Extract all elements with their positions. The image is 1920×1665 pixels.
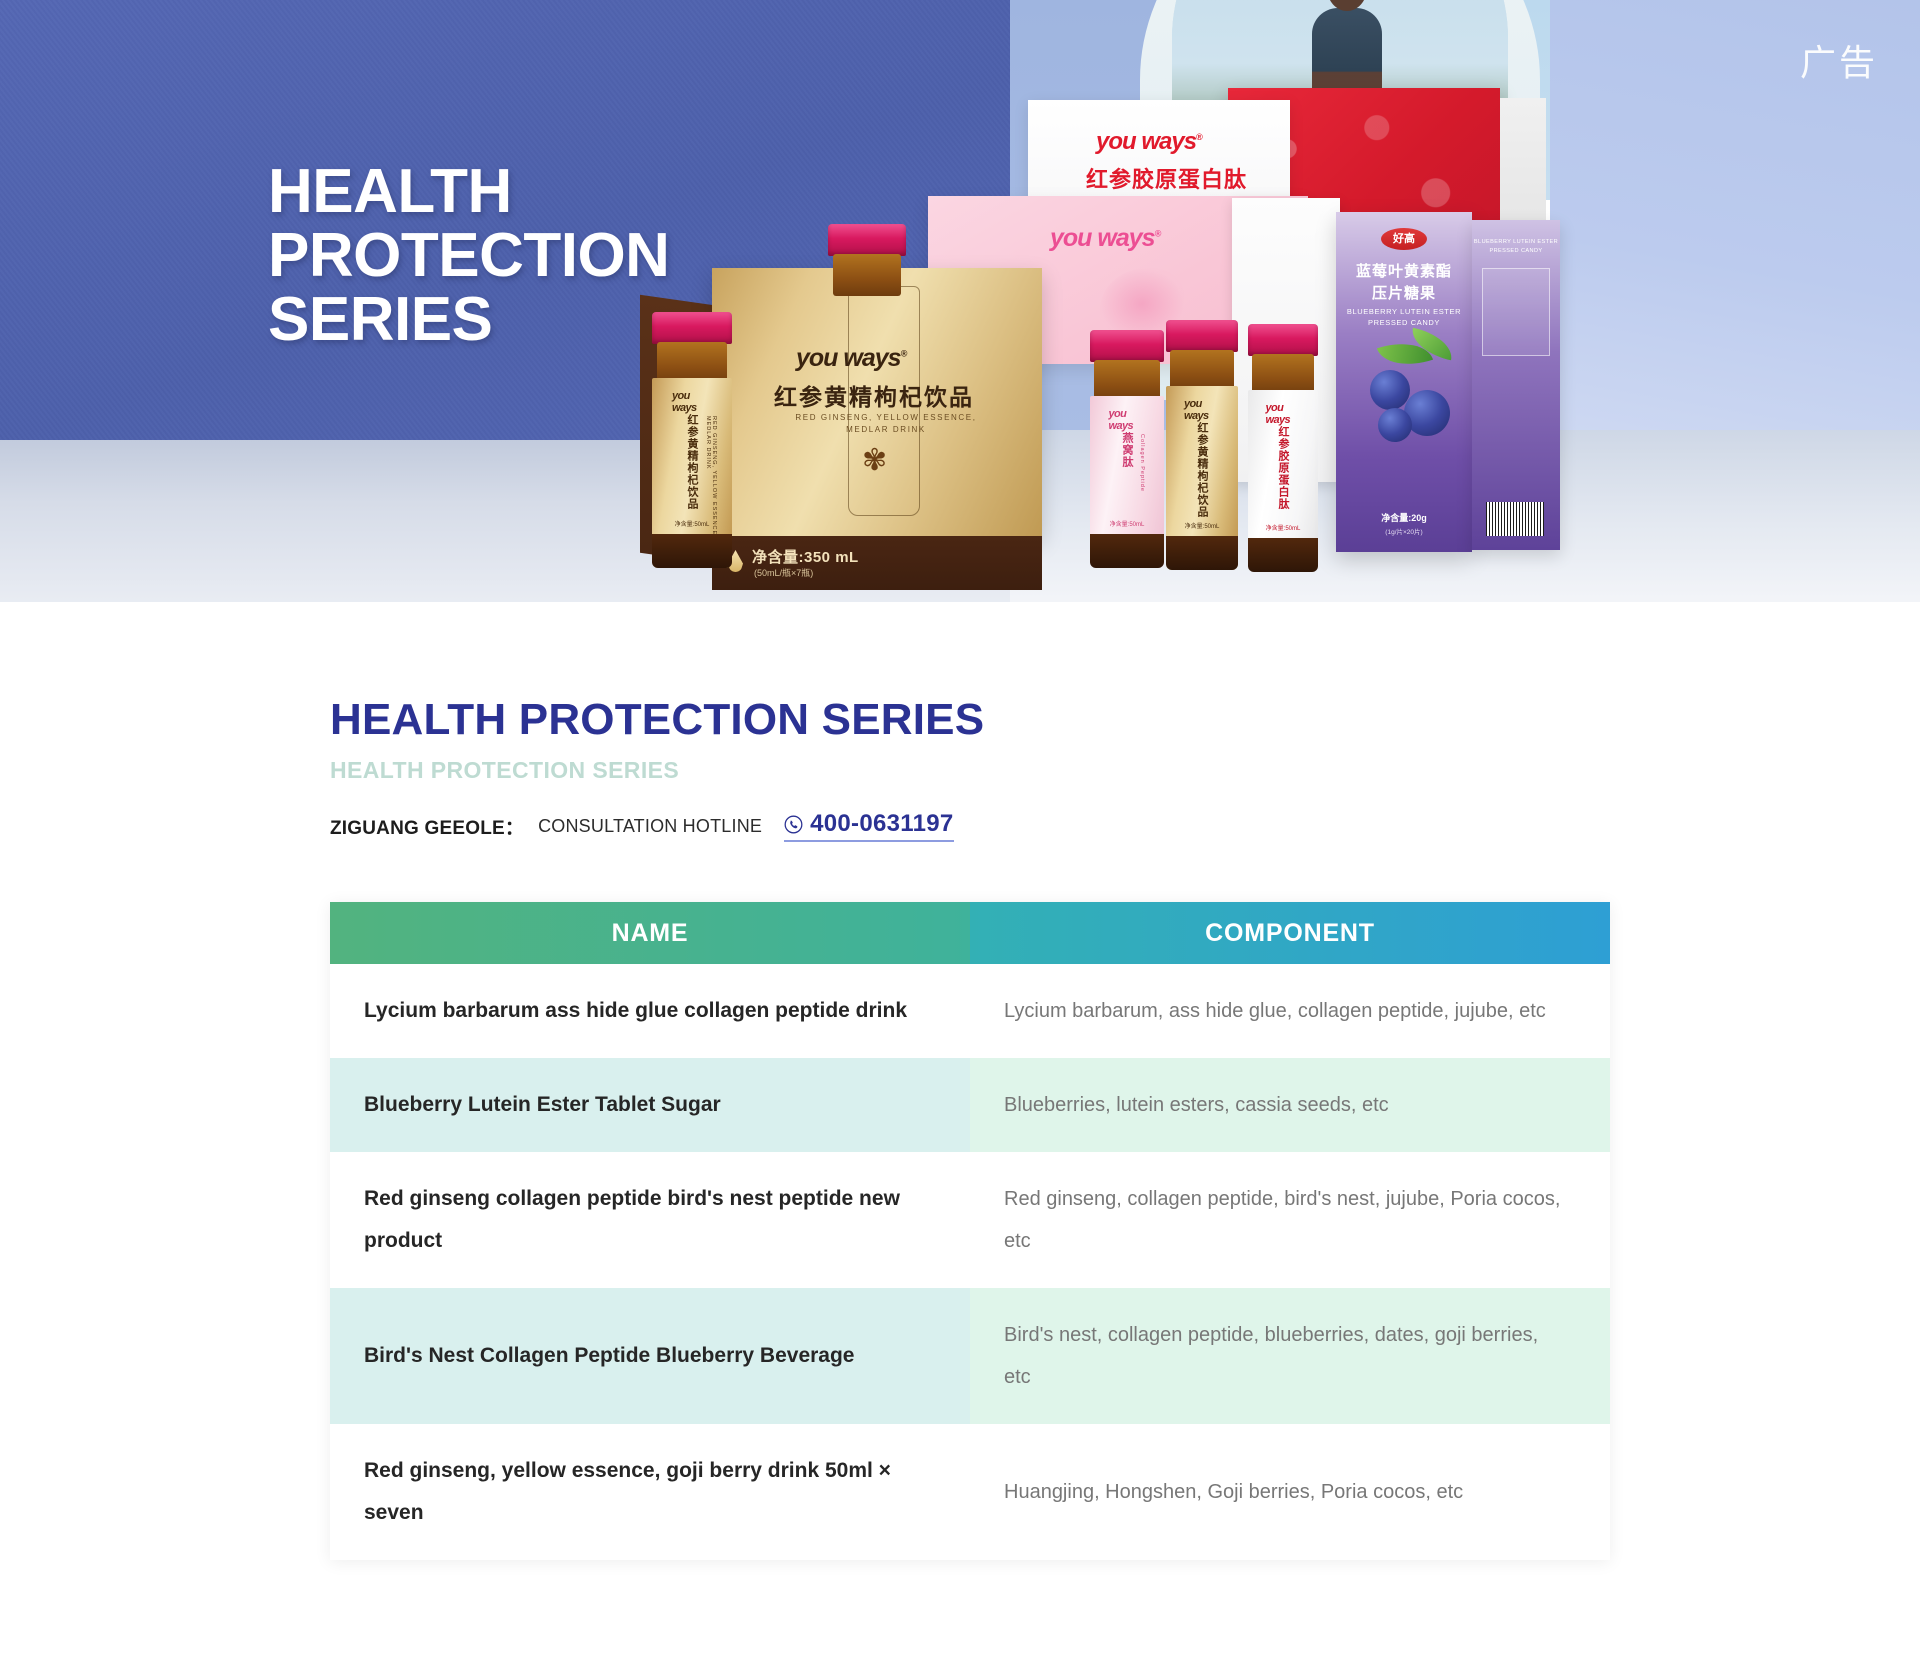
bottle-base xyxy=(1090,534,1164,568)
bottle-brand: you ways xyxy=(672,390,712,414)
cell-component: Lycium barbarum, ass hide glue, collagen… xyxy=(970,964,1610,1058)
bottle-net-content: 净含量:50mL xyxy=(1266,523,1301,532)
blueberry-icon xyxy=(1378,408,1412,442)
bottle-cn-name: 红参黄精枸杞饮品 xyxy=(684,414,700,510)
haogao-logo: 好高 xyxy=(1381,228,1427,250)
gold-box-net-content: 净含量:350 mL xyxy=(752,546,859,567)
table-body: Lycium barbarum ass hide glue collagen p… xyxy=(330,964,1610,1560)
cell-component: Blueberries, lutein esters, cassia seeds… xyxy=(970,1058,1610,1152)
hero-banner: 广告 HEALTH PROTECTION SERIES you ways® 红参… xyxy=(0,0,1920,620)
purple-box-net-content-sub: (1g/片×20片) xyxy=(1336,526,1472,536)
bottle-cap xyxy=(1166,320,1238,352)
hotline-row: ZIGUANG GEEOLE： CONSULTATION HOTLINE 400… xyxy=(330,810,1920,842)
brand-label: ZIGUANG GEEOLE： xyxy=(330,813,524,840)
section-heading: HEALTH PROTECTION SERIES xyxy=(330,695,1920,745)
product-bottle-gold-left: you ways 红参黄精枸杞饮品 RED GINSENG, YELLOW ES… xyxy=(652,312,732,568)
table-header-row: NAME COMPONENT xyxy=(330,902,1610,964)
purple-side-en-name: BLUEBERRY LUTEIN ESTER PRESSED CANDY xyxy=(1472,238,1560,256)
white-box-brand: you ways® xyxy=(1096,128,1202,156)
bottle-net-content: 净含量:50mL xyxy=(1185,521,1220,530)
product-bottle-pink: you ways 燕窝肽 Collagen Peptide 净含量:50mL xyxy=(1090,330,1164,568)
ginseng-root-icon: ✾ xyxy=(862,446,918,492)
cell-name: Red ginseng, yellow essence, goji berry … xyxy=(330,1424,970,1560)
bottle-brand: you ways xyxy=(1109,408,1146,432)
table-row: Lycium barbarum ass hide glue collagen p… xyxy=(330,964,1610,1058)
product-group: you ways® 红参胶原蛋白肽 you ways® you ways® xyxy=(0,0,1920,620)
product-purple-box: 好高 蓝莓叶黄素酯 压片糖果 BLUEBERRY LUTEIN ESTER PR… xyxy=(1336,212,1472,552)
bottle-cn-name: 红参胶原蛋白肽 xyxy=(1275,426,1291,510)
hotline-label: CONSULTATION HOTLINE xyxy=(538,816,762,837)
cell-name: Red ginseng collagen peptide bird's nest… xyxy=(330,1152,970,1288)
bottle-en-name: Collagen Peptide xyxy=(1139,434,1145,492)
table-head: NAME COMPONENT xyxy=(330,902,1610,964)
gold-box-net-band: 净含量:350 mL (50mL/瓶×7瓶) xyxy=(712,536,1042,590)
gold-box-cn-name: 红参黄精枸杞饮品 xyxy=(774,378,974,412)
table-row: Red ginseng, yellow essence, goji berry … xyxy=(330,1424,1610,1560)
gold-box-en-name: RED GINSENG, YELLOW ESSENCE, MEDLAR DRIN… xyxy=(786,412,986,436)
bottle-brand: you ways xyxy=(1266,402,1301,426)
cell-component: Huangjing, Hongshen, Goji berries, Poria… xyxy=(970,1424,1610,1560)
bottle-base xyxy=(1166,536,1238,570)
product-spec-table-wrapper: NAME COMPONENT Lycium barbarum ass hide … xyxy=(330,902,1610,1560)
product-spec-table: NAME COMPONENT Lycium barbarum ass hide … xyxy=(330,902,1610,1560)
advertisement-page: 广告 HEALTH PROTECTION SERIES you ways® 红参… xyxy=(0,0,1920,1665)
barcode-icon xyxy=(1486,502,1544,536)
purple-side-en-line2: PRESSED CANDY xyxy=(1472,247,1560,256)
cell-component: Bird's nest, collagen peptide, blueberri… xyxy=(970,1288,1610,1424)
purple-side-en-line1: BLUEBERRY LUTEIN ESTER xyxy=(1472,238,1560,247)
table-row: Bird's Nest Collagen Peptide Blueberry B… xyxy=(330,1288,1610,1424)
phone-link[interactable]: 400-0631197 xyxy=(784,810,953,842)
cell-name: Blueberry Lutein Ester Tablet Sugar xyxy=(330,1058,970,1152)
white-box-cn-name: 红参胶原蛋白肽 xyxy=(1086,162,1247,194)
product-bottle-gold-right: you ways 红参黄精枸杞饮品 净含量:50mL xyxy=(1166,320,1238,570)
purple-box-cn-line1: 蓝莓叶黄素酯 xyxy=(1336,260,1472,281)
cell-name: Bird's Nest Collagen Peptide Blueberry B… xyxy=(330,1288,970,1424)
pink-box-brand-text: you ways xyxy=(1050,224,1155,252)
product-purple-box-side: BLUEBERRY LUTEIN ESTER PRESSED CANDY xyxy=(1472,220,1560,550)
hero-bottom-edge xyxy=(0,602,1920,620)
table-row: Red ginseng collagen peptide bird's nest… xyxy=(330,1152,1610,1288)
white-box-brand-text: you ways xyxy=(1096,128,1196,155)
bottle-cap xyxy=(828,224,906,256)
column-header-name: NAME xyxy=(330,902,970,964)
bottle-cn-name: 红参黄精枸杞饮品 xyxy=(1194,422,1210,518)
purple-box-en-name: BLUEBERRY LUTEIN ESTER PRESSED CANDY xyxy=(1336,306,1472,328)
product-bottle-white: you ways 红参胶原蛋白肽 净含量:50mL xyxy=(1248,324,1318,572)
gold-box-net-content-sub: (50mL/瓶×7瓶) xyxy=(754,566,813,579)
section-subheading: HEALTH PROTECTION SERIES xyxy=(330,757,1920,784)
bottle-cap xyxy=(1090,330,1164,362)
cell-component: Red ginseng, collagen peptide, bird's ne… xyxy=(970,1152,1610,1288)
cell-name: Lycium barbarum ass hide glue collagen p… xyxy=(330,964,970,1058)
purple-box-en-line1: BLUEBERRY LUTEIN ESTER xyxy=(1336,306,1472,317)
phone-icon xyxy=(784,815,803,834)
phone-number: 400-0631197 xyxy=(810,810,953,838)
registered-mark-icon: ® xyxy=(1196,132,1202,142)
bottle-cap xyxy=(652,312,732,344)
nutrition-table xyxy=(1482,268,1550,356)
section-header: HEALTH PROTECTION SERIES HEALTH PROTECTI… xyxy=(0,620,1920,842)
blueberry-icon xyxy=(1370,370,1410,410)
content-area: HEALTH PROTECTION SERIES HEALTH PROTECTI… xyxy=(0,620,1920,1640)
purple-box-cn-line2: 压片糖果 xyxy=(1336,282,1472,303)
product-bottle-gold-top xyxy=(828,224,906,374)
bottle-brand: you ways xyxy=(1184,398,1220,422)
purple-box-net-content: 净含量:20g xyxy=(1336,511,1472,524)
bottle-base xyxy=(652,534,732,568)
bottle-net-content: 净含量:50mL xyxy=(675,519,710,528)
pink-box-brand: you ways® xyxy=(1050,224,1160,253)
registered-mark-icon: ® xyxy=(1155,229,1161,239)
purple-box-en-line2: PRESSED CANDY xyxy=(1336,317,1472,328)
bottle-cn-name: 燕窝肽 xyxy=(1119,432,1135,468)
column-header-component: COMPONENT xyxy=(970,902,1610,964)
bottle-base xyxy=(1248,538,1318,572)
bottle-cap xyxy=(1248,324,1318,356)
table-row: Blueberry Lutein Ester Tablet Sugar Blue… xyxy=(330,1058,1610,1152)
bottle-neck xyxy=(833,254,902,296)
bottle-net-content: 净含量:50mL xyxy=(1110,519,1145,528)
